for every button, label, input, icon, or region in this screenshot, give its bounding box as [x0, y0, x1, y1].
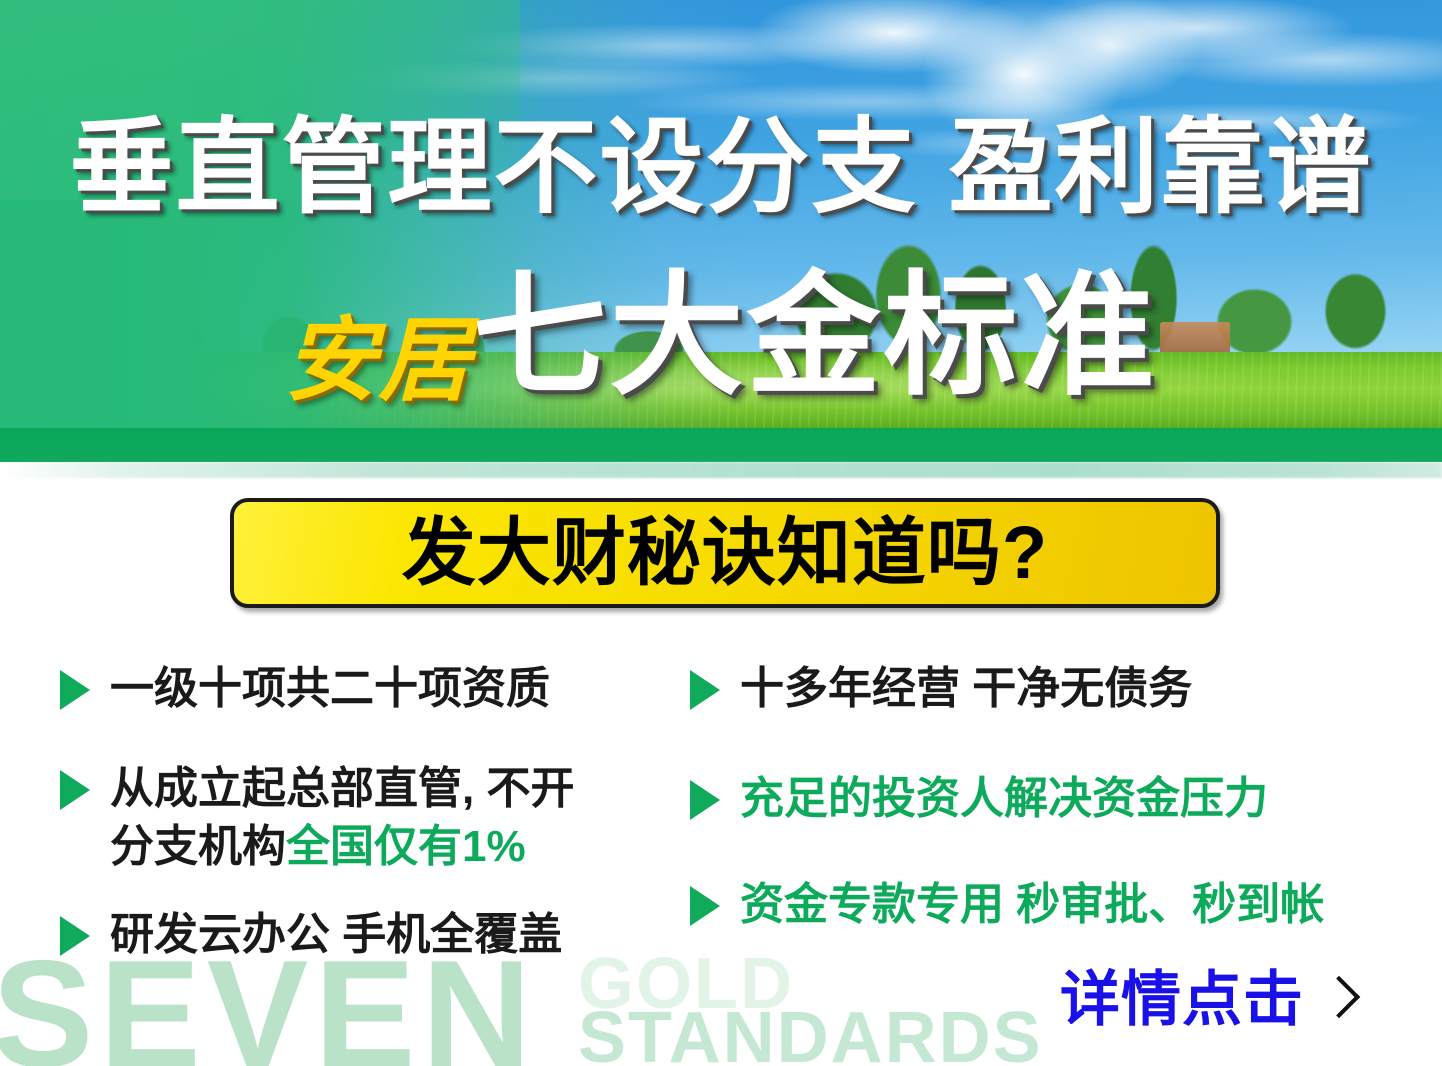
watermark-standards-text: STANDARDS [578, 1002, 1043, 1066]
feature-item: 十多年经营 干净无债务 [690, 660, 1430, 718]
hero-subheadline-main: 七大金标准 [473, 262, 1158, 411]
feature-column-left: 一级十项共二十项资质 从成立起总部直管, 不开分支机构全国仅有1% 研发云办公 … [60, 660, 680, 998]
feature-text: 研发云办公 手机全覆盖 [110, 906, 562, 964]
feature-text-line1: 从成立起总部直管, 不开 [110, 764, 574, 813]
hero-reflection-strip [0, 462, 1442, 478]
feature-text: 十多年经营 干净无债务 [740, 660, 1192, 718]
feature-item: 充足的投资人解决资金压力 [690, 770, 1430, 828]
triangle-right-icon [690, 670, 720, 710]
triangle-right-icon [690, 780, 720, 820]
feature-item: 一级十项共二十项资质 [60, 660, 680, 718]
chevron-right-icon [1322, 974, 1352, 1026]
feature-list: 一级十项共二十项资质 从成立起总部直管, 不开分支机构全国仅有1% 研发云办公 … [0, 660, 1442, 990]
hero-brand-text: 安居 [284, 310, 472, 412]
feature-text: 从成立起总部直管, 不开分支机构全国仅有1% [110, 760, 574, 876]
hero-image: 垂直管理不设分支 盈利靠谱 安居七大金标准 [0, 0, 1442, 462]
feature-text: 一级十项共二十项资质 [110, 660, 550, 718]
feature-text: 资金专款专用 秒审批、秒到帐 [740, 876, 1324, 934]
details-cta-link[interactable]: 详情点击 [1060, 968, 1352, 1032]
hero-subheadline: 安居七大金标准 [0, 262, 1442, 436]
feature-item: 从成立起总部直管, 不开分支机构全国仅有1% [60, 760, 680, 876]
triangle-right-icon [60, 670, 90, 710]
feature-text: 充足的投资人解决资金压力 [740, 770, 1268, 828]
triangle-right-icon [690, 886, 720, 926]
hero-headline: 垂直管理不设分支 盈利靠谱 [0, 112, 1442, 224]
headline-callout-banner[interactable]: 发大财秘诀知道吗? [230, 498, 1220, 608]
feature-column-right: 十多年经营 干净无债务 充足的投资人解决资金压力 资金专款专用 秒审批、秒到帐 [690, 660, 1430, 968]
feature-item: 资金专款专用 秒审批、秒到帐 [690, 876, 1430, 934]
feature-item: 研发云办公 手机全覆盖 [60, 906, 680, 964]
triangle-right-icon [60, 916, 90, 956]
triangle-right-icon [60, 770, 90, 810]
feature-text-line2-highlight: 全国仅有1% [286, 822, 526, 871]
details-cta-label: 详情点击 [1060, 968, 1304, 1032]
advertisement-banner: 垂直管理不设分支 盈利靠谱 安居七大金标准 发大财秘诀知道吗? 一级十项共二十项… [0, 0, 1442, 1066]
feature-text-line2-plain: 分支机构 [110, 822, 286, 871]
headline-callout-text: 发大财秘诀知道吗? [402, 516, 1048, 590]
